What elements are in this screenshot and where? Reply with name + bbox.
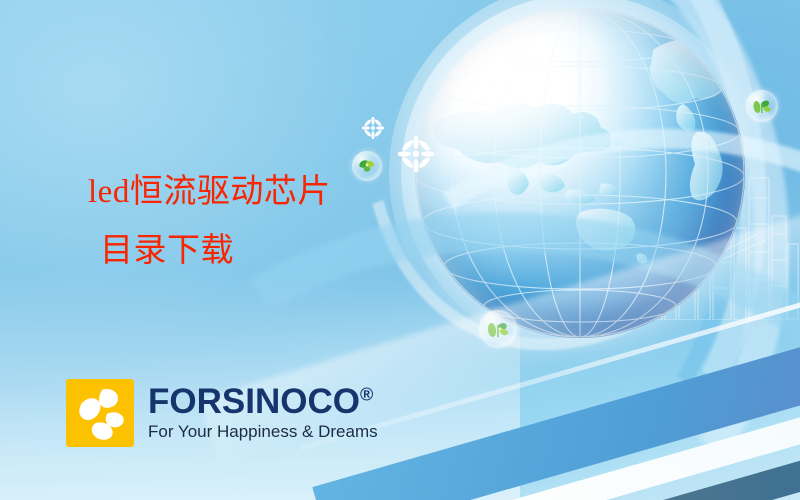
background-wash-right	[420, 0, 800, 400]
green-sprout-icon	[479, 310, 517, 348]
green-sprout-right-icon	[746, 90, 778, 122]
corner-band-dark	[466, 402, 800, 500]
logo-wordmark-text: FORSINOCO	[148, 382, 360, 421]
registered-trademark-symbol: ®	[360, 384, 373, 404]
globe-graphic	[415, 8, 745, 338]
four-petal-flower-logo-icon	[66, 379, 134, 447]
globe-sphere	[415, 8, 745, 338]
bubble-leaf-right	[746, 90, 778, 122]
globe-continents-and-grid	[415, 8, 745, 338]
sparkle-flower-small-icon	[362, 117, 384, 139]
globe-specular-highlight	[415, 8, 745, 338]
company-logo: FORSINOCO® For Your Happiness & Dreams	[66, 379, 378, 447]
logo-text-block: FORSINOCO® For Your Happiness & Dreams	[148, 385, 378, 442]
headline-line-1: led恒流驱动芯片	[88, 163, 448, 222]
bubble-leaf-center	[479, 310, 517, 348]
logo-wordmark: FORSINOCO®	[148, 385, 378, 419]
corner-band-blue	[312, 316, 800, 500]
corner-band-white-wide	[426, 370, 800, 500]
city-skyline-icon	[610, 170, 800, 320]
logo-tagline: For Your Happiness & Dreams	[148, 422, 378, 442]
headline-line-2: 目录下载	[88, 222, 448, 281]
headline: led恒流驱动芯片 目录下载	[88, 163, 448, 281]
globe-halo	[401, 0, 759, 352]
globe-rim-shading	[415, 8, 745, 338]
promotional-banner: led恒流驱动芯片 目录下载 FORSINOCO® For Your Happi…	[0, 0, 800, 500]
